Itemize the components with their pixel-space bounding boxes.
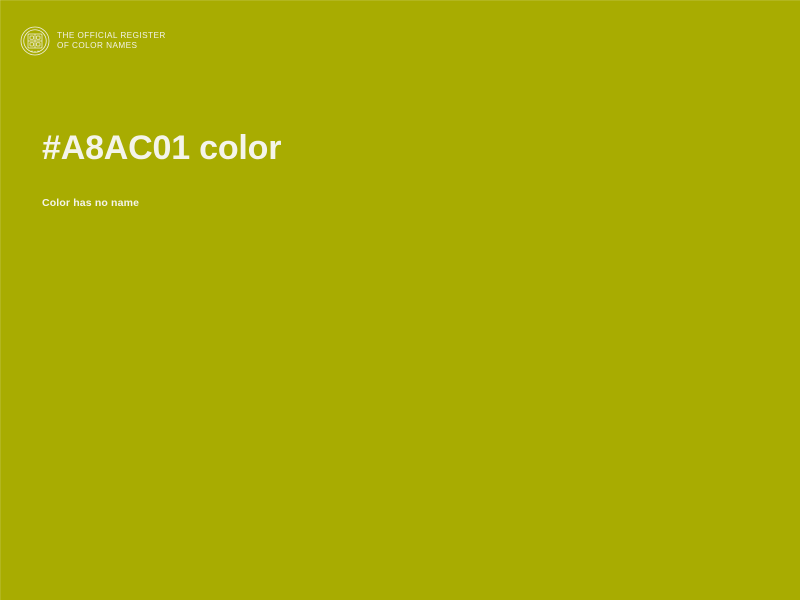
brand-line-2: OF COLOR NAMES: [57, 41, 166, 51]
color-page: THE OFFICIAL REGISTER OF COLOR NAMES #A8…: [0, 0, 800, 600]
register-seal-icon: [20, 26, 50, 56]
brand-line-1: THE OFFICIAL REGISTER: [57, 31, 166, 41]
brand-text: THE OFFICIAL REGISTER OF COLOR NAMES: [57, 31, 166, 50]
color-name-status: Color has no name: [42, 169, 742, 209]
brand-lockup[interactable]: THE OFFICIAL REGISTER OF COLOR NAMES: [20, 26, 166, 56]
page-title: #A8AC01 color: [42, 128, 742, 169]
color-info-block: #A8AC01 color Color has no name: [42, 128, 742, 209]
